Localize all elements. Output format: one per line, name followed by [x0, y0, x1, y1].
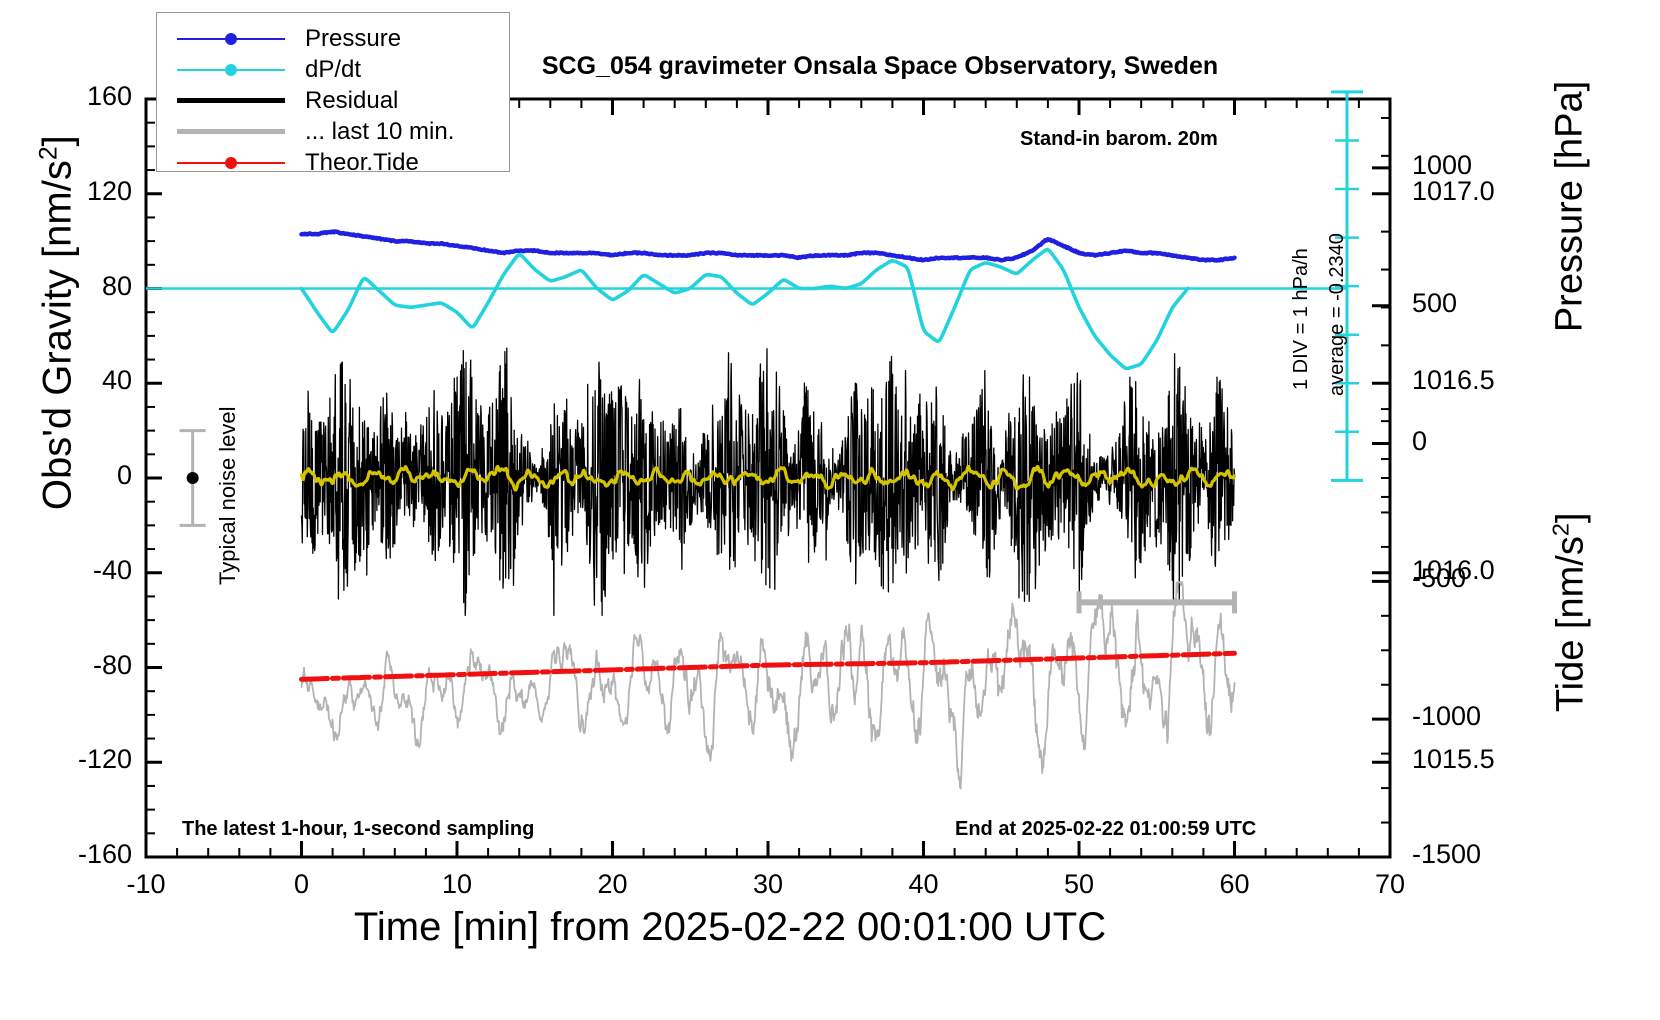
div-scale-annotation: 1 DIV = 1 hPa/h [1290, 248, 1313, 390]
legend-dot-dpdt [225, 64, 237, 76]
pressure-series [302, 232, 1235, 261]
legend-label-residual: Residual [305, 87, 398, 115]
legend-dot-pressure [225, 33, 237, 45]
typical-noise-level-label: Typical noise level [215, 406, 241, 585]
y-axis-left-label-sup: 2 [35, 146, 62, 160]
y-axis-left-label-text: Obs'd Gravity [nm/s [36, 160, 80, 510]
legend-item-pressure[interactable]: Pressure [157, 23, 509, 54]
legend: Pressure dP/dt Residual ... last 10 min.… [156, 12, 510, 172]
y-axis-right-tide-label-sup: 2 [1548, 523, 1574, 536]
legend-item-theortide[interactable]: Theor.Tide [157, 147, 509, 178]
legend-label-dpdt: dP/dt [305, 56, 361, 84]
chart-title: SCG_054 gravimeter Onsala Space Observat… [380, 52, 1380, 81]
last-10-min-series [302, 582, 1235, 788]
y-axis-right-tide-label-text: Tide [nm/s [1549, 536, 1591, 712]
legend-label-last10: ... last 10 min. [305, 118, 454, 146]
dpdt-series [302, 250, 1188, 369]
legend-swatch-residual [177, 98, 285, 103]
legend-label-pressure: Pressure [305, 25, 401, 53]
legend-dot-theortide [225, 157, 237, 169]
y-axis-right-tide-label-tail: ] [1549, 513, 1591, 524]
y-axis-right-tide-label: Tide [nm/s2] [1548, 432, 1593, 792]
footer-right-annotation: End at 2025-02-22 01:00:59 UTC [955, 818, 1256, 841]
legend-item-residual[interactable]: Residual [157, 85, 509, 116]
legend-item-dpdt[interactable]: dP/dt [157, 54, 509, 85]
y-axis-right-pressure-label: Pressure [hPa] [1549, 27, 1592, 387]
y-axis-left-label-tail: ] [36, 135, 80, 146]
footer-left-annotation: The latest 1-hour, 1-second sampling [182, 818, 534, 841]
noise-level-center-dot [187, 472, 199, 484]
chart-root: SCG_054 gravimeter Onsala Space Observat… [0, 0, 1660, 1020]
y-axis-left-label: Obs'd Gravity [nm/s2] [35, 43, 80, 603]
legend-item-last10[interactable]: ... last 10 min. [157, 116, 509, 147]
legend-label-theortide: Theor.Tide [305, 149, 419, 177]
average-annotation: average = -0.2340 [1326, 233, 1349, 396]
standin-barom-annotation: Stand-in barom. 20m [1020, 128, 1218, 151]
x-axis-label: Time [min] from 2025-02-22 00:01:00 UTC [130, 905, 1330, 950]
legend-swatch-last10 [177, 129, 285, 134]
